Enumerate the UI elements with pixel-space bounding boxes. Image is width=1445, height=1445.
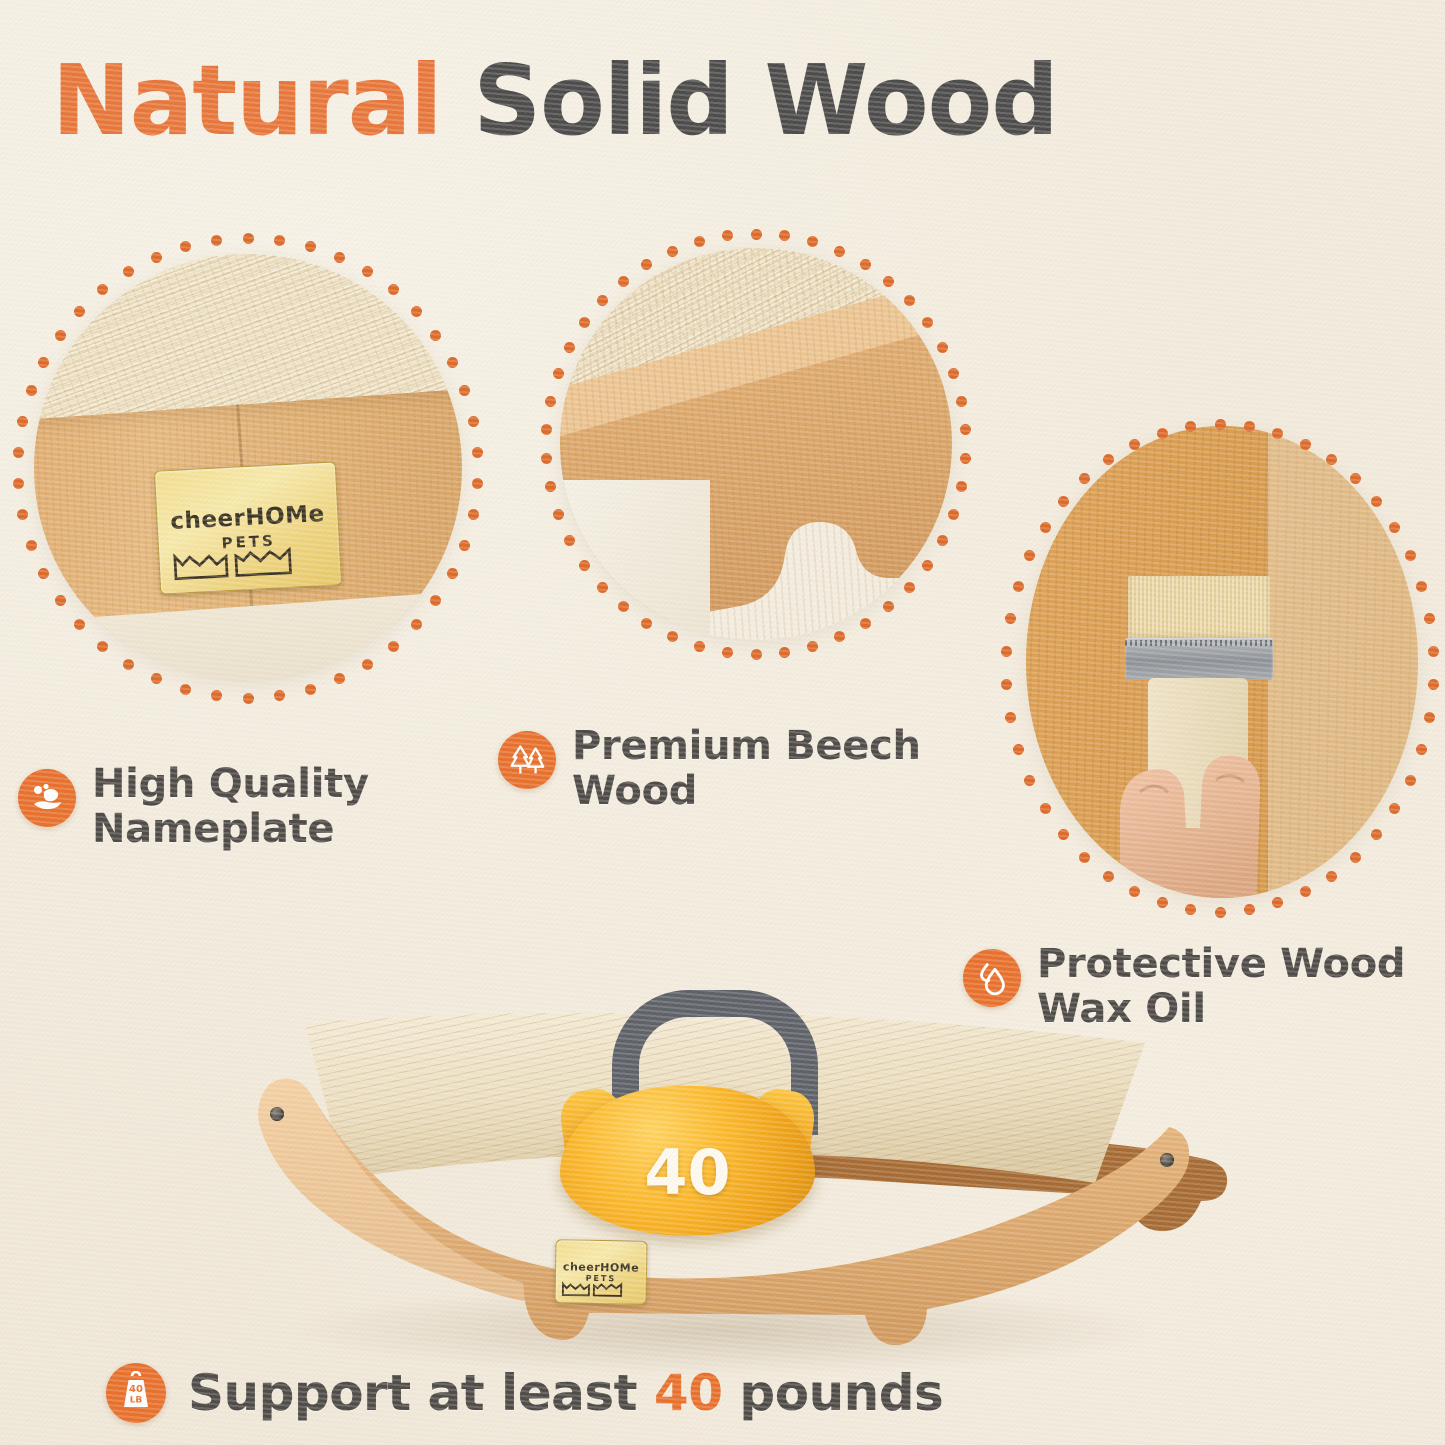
title-highlight-word: Natural xyxy=(52,44,442,157)
kettlebell-weight-value: 40 xyxy=(560,1142,815,1204)
product-screw-left xyxy=(270,1107,284,1121)
sparkle-badge-icon-glyph xyxy=(27,778,67,818)
feature-high-quality-nameplate: High Quality Nameplate xyxy=(18,762,438,852)
weight-40lb-icon-glyph: 40 LB xyxy=(114,1371,158,1415)
kettlebell-weight: 40 xyxy=(560,990,815,1235)
photo-beech-wood-image xyxy=(560,248,952,640)
photo-beech-wood xyxy=(540,228,972,660)
hero-nameplate-badge: cheerHOMe PETS xyxy=(554,1239,647,1305)
photo-wax-oil-image xyxy=(1026,426,1418,898)
weight-icon-value: 40 xyxy=(129,1384,143,1395)
caption-before: Support at least xyxy=(188,1364,654,1422)
feature-label-line2: Nameplate xyxy=(92,807,369,852)
photo-nameplate-image: cheerHOMe PETS xyxy=(34,254,462,682)
photo-nameplate: cheerHOMe PETS xyxy=(12,232,484,704)
support-weight-caption: 40 LB Support at least 40 pounds xyxy=(106,1363,943,1423)
caption-highlight: 40 xyxy=(654,1364,723,1422)
product-screw-right xyxy=(1160,1153,1174,1167)
hand-holding-brush xyxy=(1104,688,1304,898)
photo-wax-oil xyxy=(1000,418,1440,918)
caption-after: pounds xyxy=(723,1364,944,1422)
photo-backdrop xyxy=(560,480,710,640)
nameplate-brand: cheerHOMe xyxy=(170,502,325,533)
page-title: Natural Solid Wood xyxy=(52,47,1352,155)
weight-40lb-icon: 40 LB xyxy=(106,1363,166,1423)
brush-ferrule-rivets xyxy=(1125,640,1273,646)
feature-label-line1: Premium Beech xyxy=(572,724,921,769)
pine-trees-icon xyxy=(498,731,556,789)
hero-product-image: cheerHOMe PETS 40 xyxy=(215,985,1235,1385)
support-weight-text: Support at least 40 pounds xyxy=(188,1365,943,1421)
feature-label-line1: Protective Wood xyxy=(1037,942,1405,987)
feature-label-line1: High Quality xyxy=(92,762,369,807)
product-infographic-poster: Natural Solid Wood cheerHOMe PETS xyxy=(0,0,1445,1445)
sparkle-badge-icon xyxy=(18,769,76,827)
hero-nameplate-cat-glyphs xyxy=(562,1281,624,1298)
nameplate-cat-glyphs xyxy=(172,545,295,583)
feature-label-text: High Quality Nameplate xyxy=(92,762,369,852)
brush-bristles xyxy=(1128,576,1270,640)
hero-nameplate-brand: cheerHOMe xyxy=(563,1261,639,1273)
feature-label-line2: Wood xyxy=(572,769,921,814)
title-rest-words: Solid Wood xyxy=(473,44,1057,157)
pine-trees-icon-glyph xyxy=(506,739,548,781)
nameplate-badge: cheerHOMe PETS xyxy=(154,461,342,594)
feature-label-text: Premium Beech Wood xyxy=(572,724,921,814)
feature-premium-beech-wood: Premium Beech Wood xyxy=(498,724,968,814)
weight-icon-unit: LB xyxy=(130,1396,143,1406)
